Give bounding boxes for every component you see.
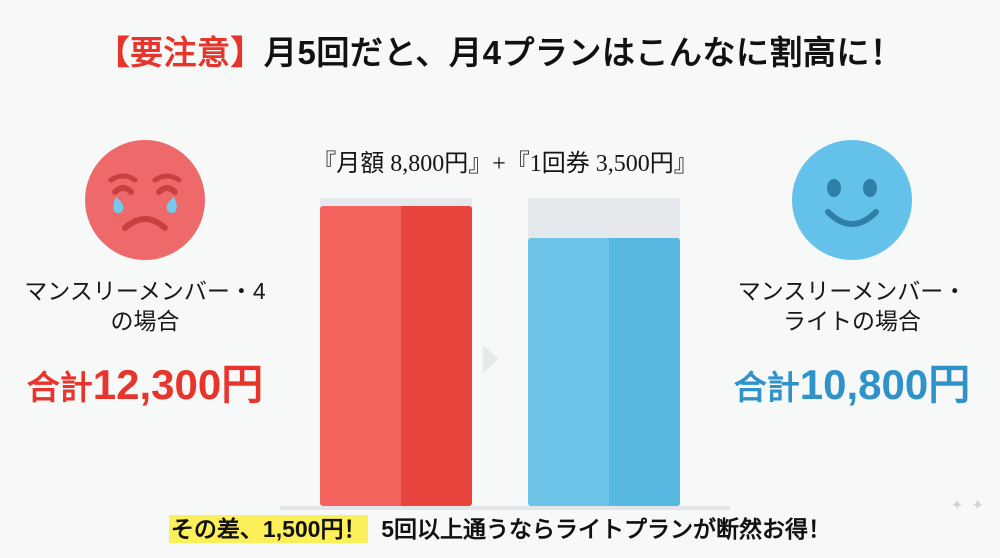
bar-shade-left: [401, 206, 472, 506]
formula-caption: 『月額 8,800円』+『1回券 3,500円』: [280, 143, 730, 178]
left-plan-label-line2: の場合: [10, 306, 280, 336]
right-total-amount: 10,800円: [800, 361, 970, 408]
footer-note: その差、1,500円！ 5回以上通うならライトプランが断然お得！: [0, 510, 1000, 544]
bar-group-monthly-4: [320, 198, 472, 506]
title-accent: 【要注意】: [97, 34, 265, 71]
left-plan-block: マンスリーメンバー・4 の場合 合計12,300円: [10, 140, 280, 412]
left-plan-label: マンスリーメンバー・4 の場合: [10, 276, 280, 337]
right-total-prefix: 合計: [734, 369, 800, 406]
left-total: 合計12,300円: [10, 351, 280, 412]
page-title: 【要注意】月5回だと、月4プランはこんなに割高に！: [0, 26, 1000, 74]
left-total-amount: 12,300円: [93, 361, 263, 408]
right-plan-label-line2: ライトの場合: [712, 306, 992, 336]
bar-shade-right: [609, 238, 680, 506]
footer-highlight: その差、1,500円！: [169, 515, 369, 543]
right-total: 合計10,800円: [712, 351, 992, 412]
sparkle-icon: ✦ ✦: [951, 496, 986, 514]
bar-group-light: [528, 198, 680, 506]
bar-fill-monthly-4: [320, 206, 472, 506]
comparison-arrow-icon: [483, 345, 499, 373]
footer-rest: 5回以上通うならライトプランが断然お得！: [381, 516, 831, 542]
sad-face-icon: [85, 140, 205, 260]
left-plan-label-line1: マンスリーメンバー・4: [10, 276, 280, 306]
bar-fill-light: [528, 238, 680, 506]
bar-chart: [280, 190, 730, 510]
right-plan-label-line1: マンスリーメンバー・: [712, 276, 992, 306]
slide-canvas: 【要注意】月5回だと、月4プランはこんなに割高に！ 『月額 8,800円』+『1…: [0, 0, 1000, 558]
happy-face-icon: [792, 140, 912, 260]
left-total-prefix: 合計: [27, 369, 93, 406]
right-plan-label: マンスリーメンバー・ ライトの場合: [712, 276, 992, 337]
right-plan-block: マンスリーメンバー・ ライトの場合 合計10,800円: [712, 140, 992, 412]
title-rest: 月5回だと、月4プランはこんなに割高に！: [264, 34, 903, 71]
